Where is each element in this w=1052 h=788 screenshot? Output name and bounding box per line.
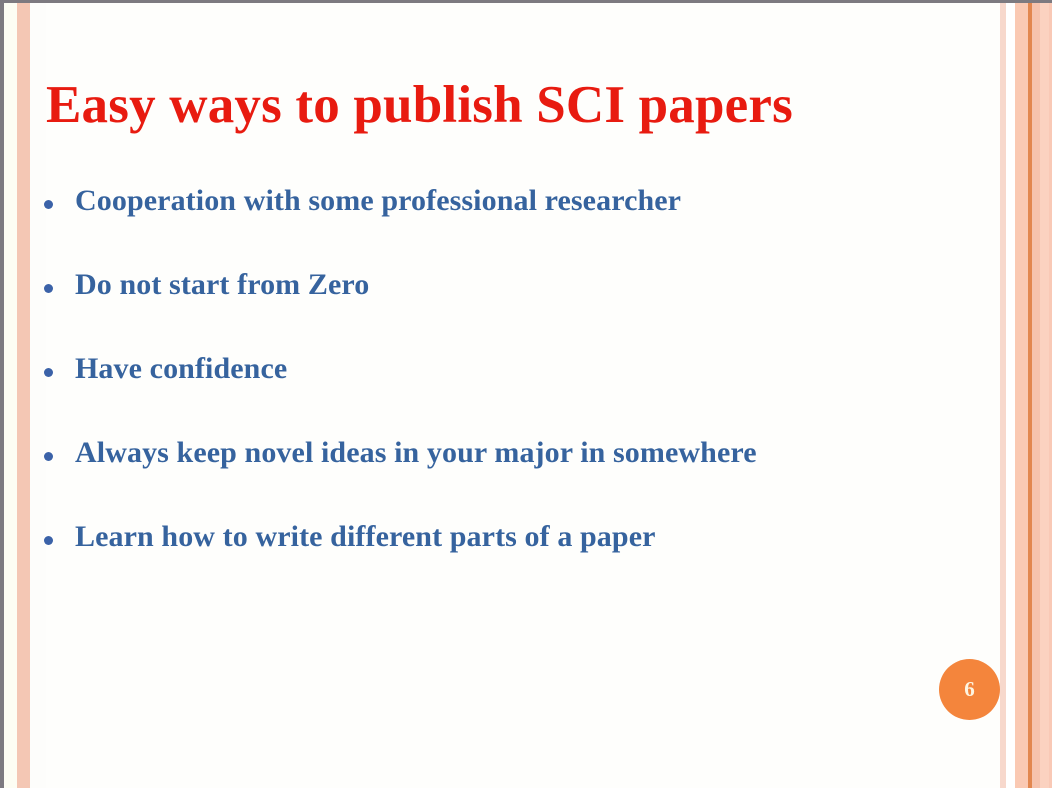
bullet-point-icon (44, 200, 53, 209)
bullet-text: Always keep novel ideas in your major in… (75, 438, 757, 468)
bullet-point-icon (44, 368, 53, 377)
bullet-text: Do not start from Zero (75, 270, 369, 300)
bullet-point-icon (44, 284, 53, 293)
slide-title: Easy ways to publish SCI papers (46, 78, 986, 134)
bullet-text: Have confidence (75, 354, 287, 384)
right-decorative-border (1000, 0, 1052, 788)
bullet-list: Cooperation with some professional resea… (40, 186, 970, 606)
left-border-stripe-cream (4, 0, 17, 788)
right-border-stripe-6 (1040, 0, 1049, 788)
list-item: Always keep novel ideas in your major in… (40, 438, 970, 522)
list-item: Have confidence (40, 354, 970, 438)
page-number-badge: 6 (939, 659, 1000, 720)
right-border-stripe-3 (1015, 0, 1028, 788)
list-item: Cooperation with some professional resea… (40, 186, 970, 270)
list-item: Learn how to write different parts of a … (40, 522, 970, 606)
bullet-point-icon (44, 536, 53, 545)
bullet-point-icon (44, 452, 53, 461)
bullet-text: Learn how to write different parts of a … (75, 522, 656, 552)
right-border-stripe-2 (1006, 0, 1015, 788)
left-border-stripe-salmon (17, 0, 30, 788)
page-number-label: 6 (964, 679, 975, 700)
right-border-stripe-5 (1032, 0, 1040, 788)
top-border-rule (0, 0, 1052, 3)
list-item: Do not start from Zero (40, 270, 970, 354)
bullet-text: Cooperation with some professional resea… (75, 186, 681, 216)
presentation-slide: Easy ways to publish SCI papers Cooperat… (0, 0, 1052, 788)
